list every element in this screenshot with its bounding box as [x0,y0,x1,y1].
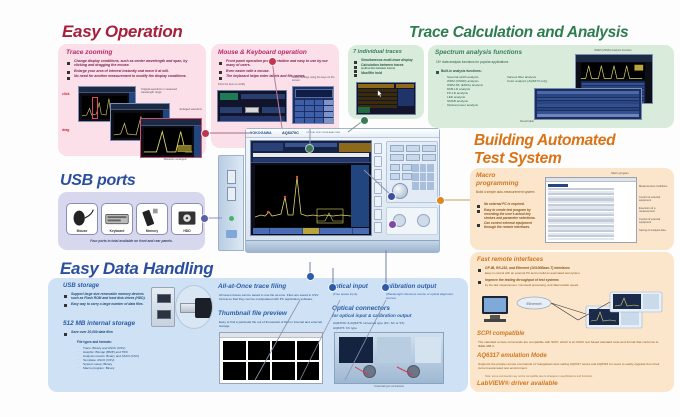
screenshot-soft-keypad [292,86,334,124]
instrument-display [250,140,372,236]
section-title-easy-data-handling: Easy Data Handling [60,259,213,279]
text-spectrum-lead: 15+ data analysis functions for popular … [436,60,508,64]
heading-labview-driver: LabVIEW® driver available [477,380,558,387]
list-macro: No external PC is required. Easy to crea… [477,202,541,229]
heading-macro-2: programming [476,180,519,187]
text-emulation: Supports the private remote commands of … [478,362,664,370]
list-item: Change display conditions, such as cente… [67,59,201,68]
heading-fast-remote-interfaces: Fast remote interfaces [477,256,543,263]
list-item: Support large size removable memory devi… [64,292,150,300]
callout-dot-traces [306,145,313,152]
usb-port-slot[interactable] [227,170,236,184]
list-remote-interfaces-2: Improve the testing throughput of test s… [478,278,668,282]
list-item: Enlarge your area of interest instantly … [67,69,201,73]
screenshot-enlarged-waveform [140,118,202,158]
caption-macro-program: Macro program [600,172,640,175]
screenshot-panel-settings [217,90,287,122]
usb-icon-label: HDD [172,229,202,233]
label-waveform-enlarged: Waveform enlarged [150,158,200,161]
power-led [229,216,234,221]
callout-dot-spectrum [361,117,368,124]
callout-dot-data-filing [307,273,314,280]
heading-optical-connectors-1: Optical connectors [332,305,390,312]
callout-dot-knob [389,221,396,228]
brochure-page: Easy Operation Trace zooming Change disp… [0,0,680,417]
instrument-brand: YOKOGAWA [250,131,272,135]
instrument-subtitle: OPTICAL SPECTRUM ANALYZER [306,132,340,134]
power-button[interactable] [226,230,237,238]
label-click-callout: click [62,92,70,96]
heading-thumbnail-preview: Thumbnail file preview [218,310,287,317]
text-scpi: The standard remote commands are compati… [478,340,664,348]
diagram-remote-setup: Ethernet [478,290,668,334]
callout-dot-side-usb [388,193,395,200]
list-item: Improve the testing throughput of test s… [478,278,668,282]
screenshot-thumbnail-browser [219,332,323,384]
heading-usb-storage: USB storage [63,283,99,289]
label-enlarged-waveform: Enlarged waveform [170,108,202,111]
usb-icon-label: Mouse [67,229,97,233]
instrument-side-usb-panel [218,155,244,251]
heading-scpi-compatible: SCPI compatible [477,331,524,337]
heading-macro-1: Macro [476,172,495,179]
heading-aq6317-emulation: AQ6317 emulation Mode [477,353,547,359]
list-analysis-col2: Various filter analysis Color analysis (… [502,75,562,83]
usb-icon-label: Memory [137,229,167,233]
usb-icon-hdd: HDD [171,203,203,235]
list-item: Optical power analysis [442,103,500,107]
label-original-waveform: Original waveform in measured wavelength… [141,88,187,94]
list-item: Max/Min hold [354,71,420,75]
callout-dot-optical-input [329,284,336,291]
sublabel-optical-input: (Free space input) [333,292,357,296]
heading-internal-storage: 512 MB internal storage [63,320,135,327]
list-item: Can control external equipment through t… [477,221,541,229]
section-title-usb-ports: USB ports [60,172,136,190]
instrument-soft-keys[interactable] [374,143,382,233]
photo-usb-storage [151,285,213,329]
callout-dot-trace-zoom [202,130,209,137]
calibration-output-port[interactable] [417,214,430,227]
list-seven-traces: Simultaneous multi-trace display Calcula… [354,58,420,75]
list-item: Easy to create test program by recording… [477,208,541,220]
heading-spectrum-analysis: Spectrum analysis functions [435,49,522,56]
heading-seven-traces: 7 individual traces [353,49,402,55]
screenshot-trace-list [356,82,416,115]
list-analysis-col1: Spectral width analysis WDM (OSNR) analy… [442,75,500,107]
list-item: No external PC is required. [477,202,541,206]
list-item-subnote: (subtraction between traces) [354,67,420,70]
screenshot-result-table [534,88,642,120]
text-remote-sub-1: by the fast measurement, command process… [485,283,579,287]
instrument-optical-spectrum-analyzer: YOKOGAWA AQ6370C OPTICAL SPECTRUM ANALYZ… [245,128,440,253]
callout-dot-calibration-output [382,284,389,291]
list-item: No need for another measurement to modif… [67,74,201,78]
screenshot-macro-editor [545,177,637,243]
caption-wdm-analysis: WDM (OSNR) Analysis Function [578,49,648,52]
usb-icon-keyboard: Keyboard [101,203,133,235]
list-internal-storage: Save over 20,000 data files [64,330,150,334]
label-builtin-functions: Built-in analysis functions: [436,69,482,73]
label-file-types: File types and formats: [77,340,112,344]
list-item: Simultaneous multi-trace display [354,58,420,62]
text-thumbnail-preview: Easy to find a particular file out of th… [219,320,324,328]
label-calibration-output: Calibration output [383,283,436,290]
caption-result-table: Result table [508,120,534,123]
text-remote-sub-0: Easy to control with an external PC and … [485,271,580,275]
text-macro-lead: Build a simple auto-measurement system [476,190,538,194]
note-modify-settings: Modify settings using the keys on the sc… [292,76,336,82]
usb-icon-memory: Memory [136,203,168,235]
section-title-building-automated-2: Test System [474,150,561,168]
list-item: Front panel operation proven intuitive a… [219,59,333,68]
list-item: Color analysis (AQ6373 only) [502,79,562,83]
text-connector-line-0: AQ6370C & AQ6375: Universal type (FC, SC… [333,321,404,325]
annotation-item: Saving of analysis data [639,230,671,241]
usb-icon-label: Keyboard [102,229,132,233]
sublabel-calibration-output: (Wavelength reference source or optical … [386,292,460,300]
heading-optical-connectors-2: for optical input & calibration output [332,313,411,318]
list-trace-zooming: Change display conditions, such as cente… [67,59,201,79]
heading-all-at-once: All-at-Once trace filing [218,283,286,290]
note-point-item: Point the item to modify [218,83,258,86]
heading-trace-zooming: Trace zooming [66,49,112,56]
section-title-building-automated-1: Building Automated [474,132,615,150]
list-item: Save over 20,000 data files [64,330,150,334]
note-usb-ports: Four ports in total available on front a… [58,239,205,243]
usb-icon-mouse: Mouse [66,203,98,235]
section-title-trace-calculation: Trace Calculation and Analysis [409,24,628,42]
callout-dot-mouse-keyboard [269,58,276,65]
heading-mouse-keyboard: Mouse & Keyboard operation [218,49,307,56]
usb-port-slot[interactable] [227,187,236,201]
list-item: Even easier with a mouse. [219,69,333,73]
text-all-at-once: All seven traces can be saved in one fil… [219,293,324,301]
list-remote-interfaces: GP-IB, RS-232, and Ethernet (10/100Base-… [478,266,668,270]
caption-universal-connectors: Universal type connectors [334,385,444,388]
callout-dot-usb [201,215,208,222]
footnote-emulation: Note: some commands may not be compatibl… [485,375,663,378]
photo-connector-panel [334,332,444,384]
list-item: Easy way to carry a large number of data… [64,302,150,306]
list-item: Macro program: Binary [78,366,178,370]
instrument-model: AQ6370C [282,131,299,135]
label-drag-callout: drag [62,128,69,132]
annotations-macro: Measurement conditions Control of extern… [639,186,671,241]
svg-text:Ethernet: Ethernet [526,301,542,306]
callout-dot-macro [437,197,444,204]
list-item: GP-IB, RS-232, and Ethernet (10/100Base-… [478,266,668,270]
section-title-easy-operation: Easy Operation [62,22,183,42]
text-connector-line-1: AQ6373: FC type [333,326,357,330]
list-usb-storage: Support large size removable memory devi… [64,292,150,306]
list-file-formats: Trace: Binary and ASCII (CSV) Graphic: B… [78,346,178,370]
